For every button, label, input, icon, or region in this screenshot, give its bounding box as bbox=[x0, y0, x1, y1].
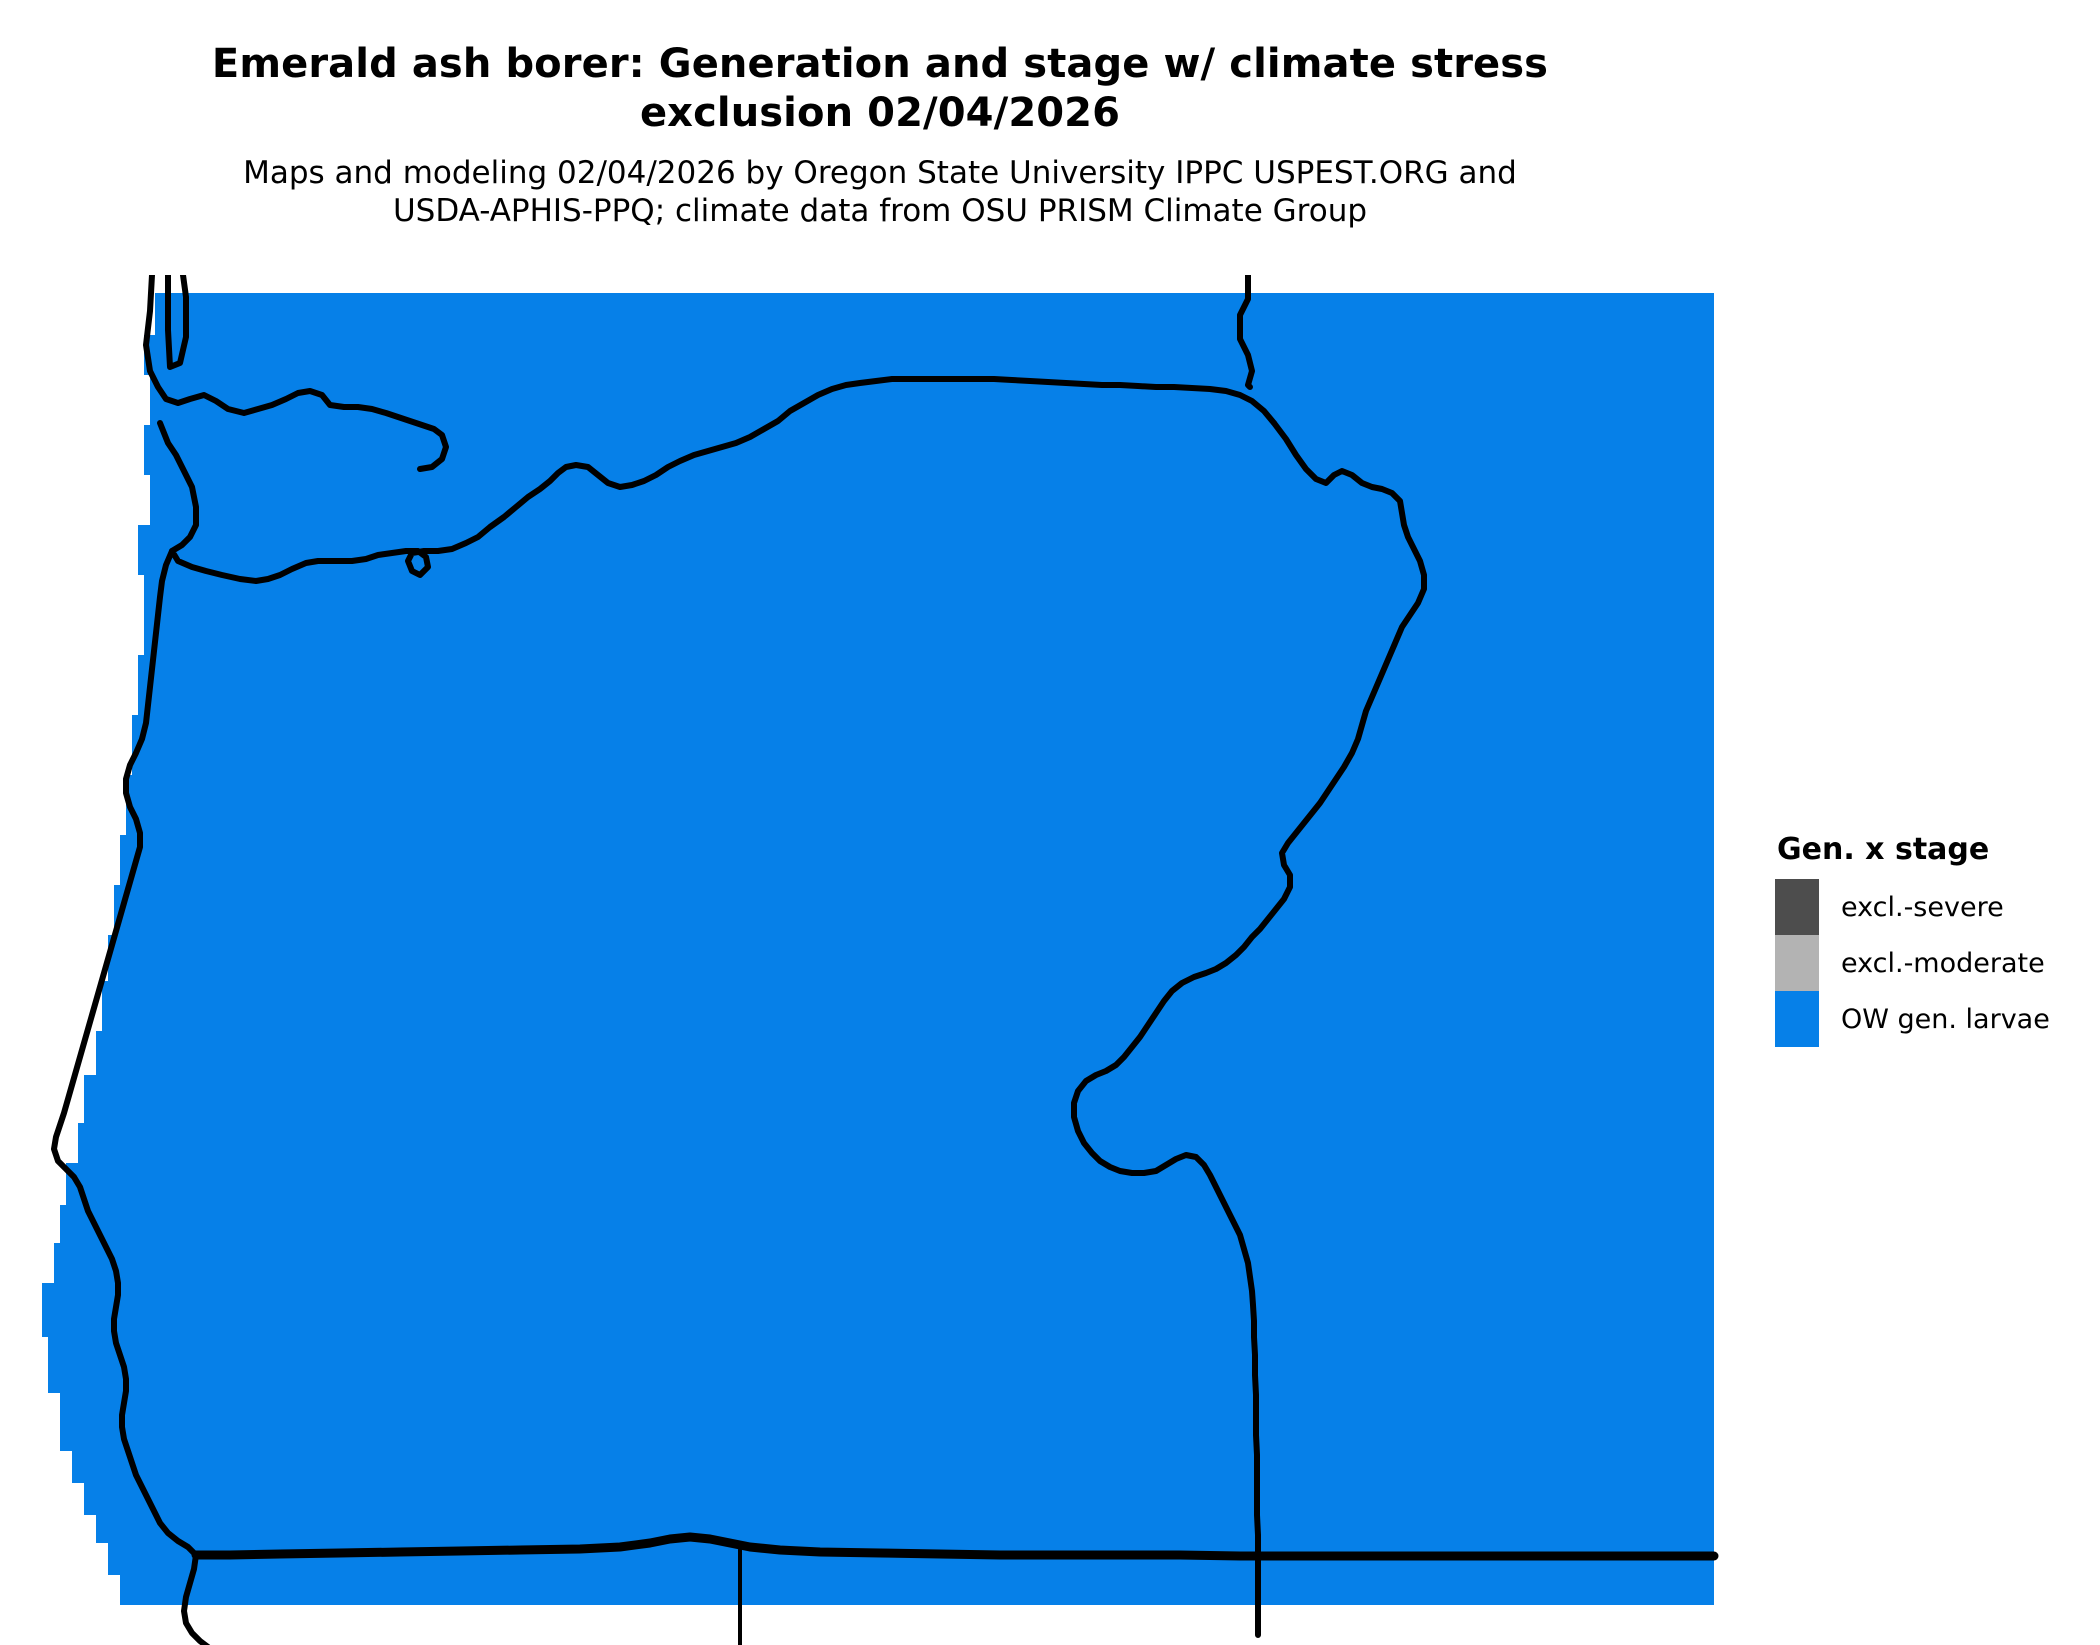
legend-item-ow-gen-larvae[interactable]: OW gen. larvae bbox=[1775, 991, 2095, 1047]
legend-label-excl-moderate: excl.-moderate bbox=[1841, 948, 2045, 979]
page-title-line1: Emerald ash borer: Generation and stage … bbox=[212, 41, 1548, 87]
legend-title: Gen. x stage bbox=[1777, 832, 2095, 867]
legend-swatch-excl-moderate bbox=[1775, 935, 1819, 991]
map-canvas[interactable] bbox=[0, 275, 1740, 1645]
legend-item-excl-severe[interactable]: excl.-severe bbox=[1775, 879, 2095, 935]
page-title-line2: exclusion 02/04/2026 bbox=[640, 90, 1120, 136]
raster-layer bbox=[0, 275, 1740, 1645]
page-subtitle: Maps and modeling 02/04/2026 by Oregon S… bbox=[100, 154, 1660, 232]
title-block: Emerald ash borer: Generation and stage … bbox=[0, 40, 1760, 231]
map-legend: Gen. x stage excl.-severe excl.-moderate… bbox=[1775, 832, 2095, 1047]
map-page: Emerald ash borer: Generation and stage … bbox=[0, 0, 2100, 1645]
legend-label-ow-gen-larvae: OW gen. larvae bbox=[1841, 1004, 2050, 1035]
page-title: Emerald ash borer: Generation and stage … bbox=[115, 40, 1645, 138]
legend-swatch-ow-gen-larvae bbox=[1775, 991, 1819, 1047]
raster-ow-gen-larvae bbox=[0, 275, 1740, 1645]
page-subtitle-line2: USDA-APHIS-PPQ; climate data from OSU PR… bbox=[393, 193, 1367, 229]
legend-label-excl-severe: excl.-severe bbox=[1841, 892, 2004, 923]
legend-swatch-excl-severe bbox=[1775, 879, 1819, 935]
map-svg bbox=[0, 275, 1740, 1645]
legend-item-excl-moderate[interactable]: excl.-moderate bbox=[1775, 935, 2095, 991]
page-subtitle-line1: Maps and modeling 02/04/2026 by Oregon S… bbox=[243, 155, 1517, 191]
